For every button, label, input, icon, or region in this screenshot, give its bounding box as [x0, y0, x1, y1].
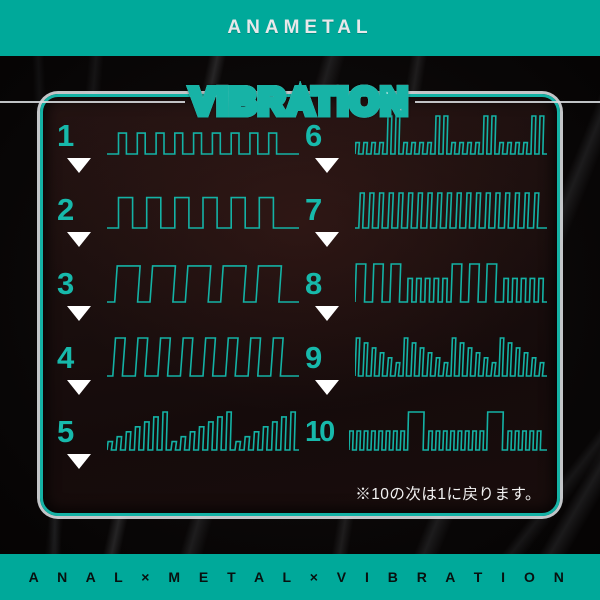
down-triangle-icon [315, 380, 339, 395]
pattern-number: 7 [305, 193, 359, 227]
pattern-number: 5 [57, 415, 111, 449]
panel-title-row: VIBRATION [0, 78, 600, 126]
pattern-row[interactable]: 9 [305, 333, 551, 407]
background-stage: 12345 678910 ※10の次は1に戻ります。 VIBRATION [0, 56, 600, 554]
waveform-descending-bursts [355, 335, 547, 379]
waveform-narrow-slanted-pulses [107, 335, 299, 379]
down-triangle-icon [315, 306, 339, 321]
pattern-row[interactable]: 2 [57, 185, 303, 259]
pattern-number: 9 [305, 341, 359, 375]
down-triangle-icon [315, 158, 339, 173]
pattern-row[interactable]: 5 [57, 407, 303, 481]
pattern-column-right: 678910 [305, 111, 551, 481]
pattern-number: 3 [57, 267, 111, 301]
pattern-column-left: 12345 [57, 111, 303, 481]
vibration-panel: 12345 678910 ※10の次は1に戻ります。 [40, 94, 560, 516]
down-triangle-icon [315, 232, 339, 247]
down-triangle-icon [67, 158, 91, 173]
pattern-number: 2 [57, 193, 111, 227]
title-rule-left [0, 101, 185, 103]
waveform-wide-slanted-pulses [107, 261, 299, 305]
app-root: ANAMETAL 12345 678910 ※10の次は1に戻ります。 VIBR… [0, 0, 600, 600]
pattern-row[interactable]: 7 [305, 185, 551, 259]
pattern-row[interactable]: 4 [57, 333, 303, 407]
waveform-buzz-then-plateau [349, 409, 547, 453]
pattern-row[interactable]: 8 [305, 259, 551, 333]
waveform-dense-uniform-pulses [355, 187, 547, 231]
pattern-row[interactable]: 3 [57, 259, 303, 333]
waveform-wide-narrow-groups [355, 261, 547, 305]
down-triangle-icon [67, 380, 91, 395]
page-title: VIBRATION [185, 81, 416, 123]
brand-title: ANAMETAL [227, 17, 372, 39]
loop-note: ※10の次は1に戻ります。 [355, 482, 541, 504]
footer-band: A N A L × M E T A L × V I B R A T I O N [0, 554, 600, 600]
pattern-row[interactable]: 10 [305, 407, 551, 481]
down-triangle-icon [67, 306, 91, 321]
title-rule-right [415, 101, 600, 103]
down-triangle-icon [67, 232, 91, 247]
pattern-number: 8 [305, 267, 359, 301]
pattern-number: 4 [57, 341, 111, 375]
footer-tagline: A N A L × M E T A L × V I B R A T I O N [29, 569, 572, 585]
header-band: ANAMETAL [0, 0, 600, 56]
waveform-medium-square-wave [107, 187, 299, 231]
waveform-crescendo-ramp [107, 409, 299, 453]
down-triangle-icon [67, 454, 91, 469]
